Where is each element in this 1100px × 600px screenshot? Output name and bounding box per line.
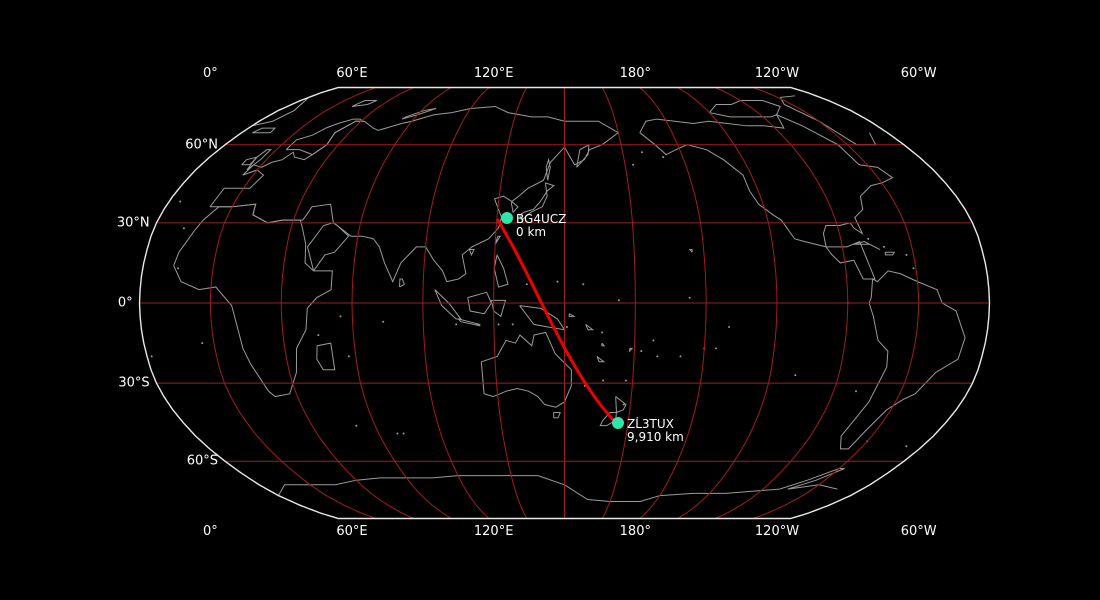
lon-tick-label-top-5: 60°W — [901, 66, 937, 81]
station-distance-bg4ucz: 0 km — [516, 225, 546, 239]
robinson-map-svg — [0, 0, 1100, 600]
lat-tick-label-0: 60°N — [0, 137, 218, 152]
station-callsign-bg4ucz: BG4UCZ — [516, 212, 566, 226]
lon-tick-label-bottom-0: 0° — [203, 524, 218, 539]
lon-tick-label-bottom-2: 120°E — [474, 524, 514, 539]
lat-tick-label-1: 30°N — [0, 215, 150, 230]
lat-tick-label-4: 60°S — [0, 454, 218, 469]
lon-tick-label-top-1: 60°E — [336, 66, 367, 81]
map-figure: Robinson Projection PM02 to RE66HO (145°… — [0, 0, 1100, 600]
lon-tick-label-top-0: 0° — [203, 66, 218, 81]
lon-tick-label-top-3: 180° — [620, 66, 651, 81]
map-canvas — [0, 0, 1100, 600]
lat-tick-label-3: 30°S — [0, 376, 150, 391]
station-distance-zl3tux: 9,910 km — [627, 430, 684, 444]
lon-tick-label-bottom-3: 180° — [620, 524, 651, 539]
lon-tick-label-bottom-5: 60°W — [901, 524, 937, 539]
map-background — [0, 0, 1100, 600]
lon-tick-label-bottom-4: 120°W — [755, 524, 799, 539]
lat-tick-label-2: 0° — [0, 296, 133, 311]
station-callsign-zl3tux: ZL3TUX — [627, 417, 674, 431]
lon-tick-label-bottom-1: 60°E — [336, 524, 367, 539]
lon-tick-label-top-2: 120°E — [474, 66, 514, 81]
lon-tick-label-top-4: 120°W — [755, 66, 799, 81]
